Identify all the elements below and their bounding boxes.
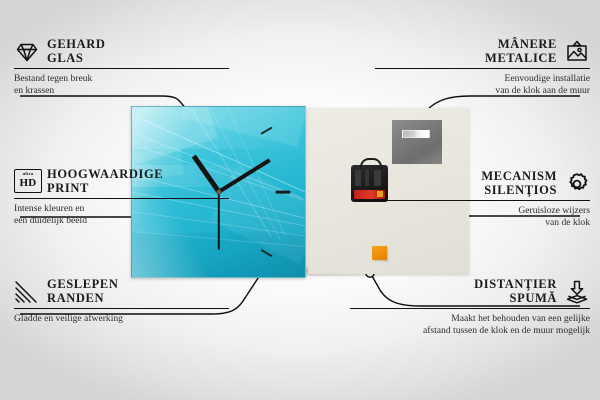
feature-header: GESLEPENRANDEN [14,278,229,305]
feature-subtitle: Bestand tegen breuken krassen [14,73,229,96]
feature-manere-metalice: MÂNEREMETALICE Eenvoudige installatievan… [375,38,590,97]
feature-divider [14,198,229,199]
feature-geslepen-randen: GESLEPENRANDEN Gladde en veilige afwerki… [14,278,229,325]
feature-title: HOOGWAARDIGEPRINT [47,168,163,195]
feature-header: ultra HD HOOGWAARDIGEPRINT [14,168,229,195]
metal-hanger [392,120,442,164]
feature-divider [375,68,590,69]
feature-divider [14,308,229,309]
feature-subtitle: Maakt het behouden van een gelijkeafstan… [350,313,590,336]
feature-divider [14,68,229,69]
feature-subtitle: Intense kleuren eneen duidelijk beeld [14,203,229,226]
picture-frame-hanger-icon [564,39,590,65]
infographic-canvas: GEHARDGLAS Bestand tegen breuken krassen… [0,0,600,400]
feature-subtitle: Eenvoudige installatievan de klok aan de… [375,73,590,96]
feature-header: MECANISMSILENŢIOS [375,170,590,197]
diamond-icon [14,39,40,65]
feature-title: MECANISMSILENŢIOS [481,170,557,197]
feature-gehard-glas: GEHARDGLAS Bestand tegen breuken krassen [14,38,229,97]
feature-title: GEHARDGLAS [47,38,105,65]
feature-hoogwaardige-print: ultra HD HOOGWAARDIGEPRINT Intense kleur… [14,168,229,227]
feature-header: MÂNEREMETALICE [375,38,590,65]
feature-divider [375,200,590,201]
feature-distantier-spuma: DISTANŢIERSPUMĂ Maakt het behouden van e… [350,278,590,337]
hanger-slot [402,130,430,138]
ultra-hd-icon: ultra HD [14,169,40,195]
beveled-edge-icon [14,279,40,305]
feature-divider [350,308,590,309]
feature-title: DISTANŢIERSPUMĂ [474,278,557,305]
mechanism-loop [360,158,382,169]
feature-title: MÂNEREMETALICE [485,38,557,65]
feature-header: DISTANŢIERSPUMĂ [350,278,590,305]
feature-title: GESLEPENRANDEN [47,278,119,305]
feature-header: GEHARDGLAS [14,38,229,65]
spacer-layers-down-arrow-icon [564,279,590,305]
feature-subtitle: Geruisloze wijzersvan de klok [375,205,590,228]
foam-spacer [372,246,387,260]
gear-icon [564,171,590,197]
feature-subtitle: Gladde en veilige afwerking [14,313,229,325]
feature-mecanism-silentios: MECANISMSILENŢIOS Geruisloze wijzersvan … [375,170,590,229]
